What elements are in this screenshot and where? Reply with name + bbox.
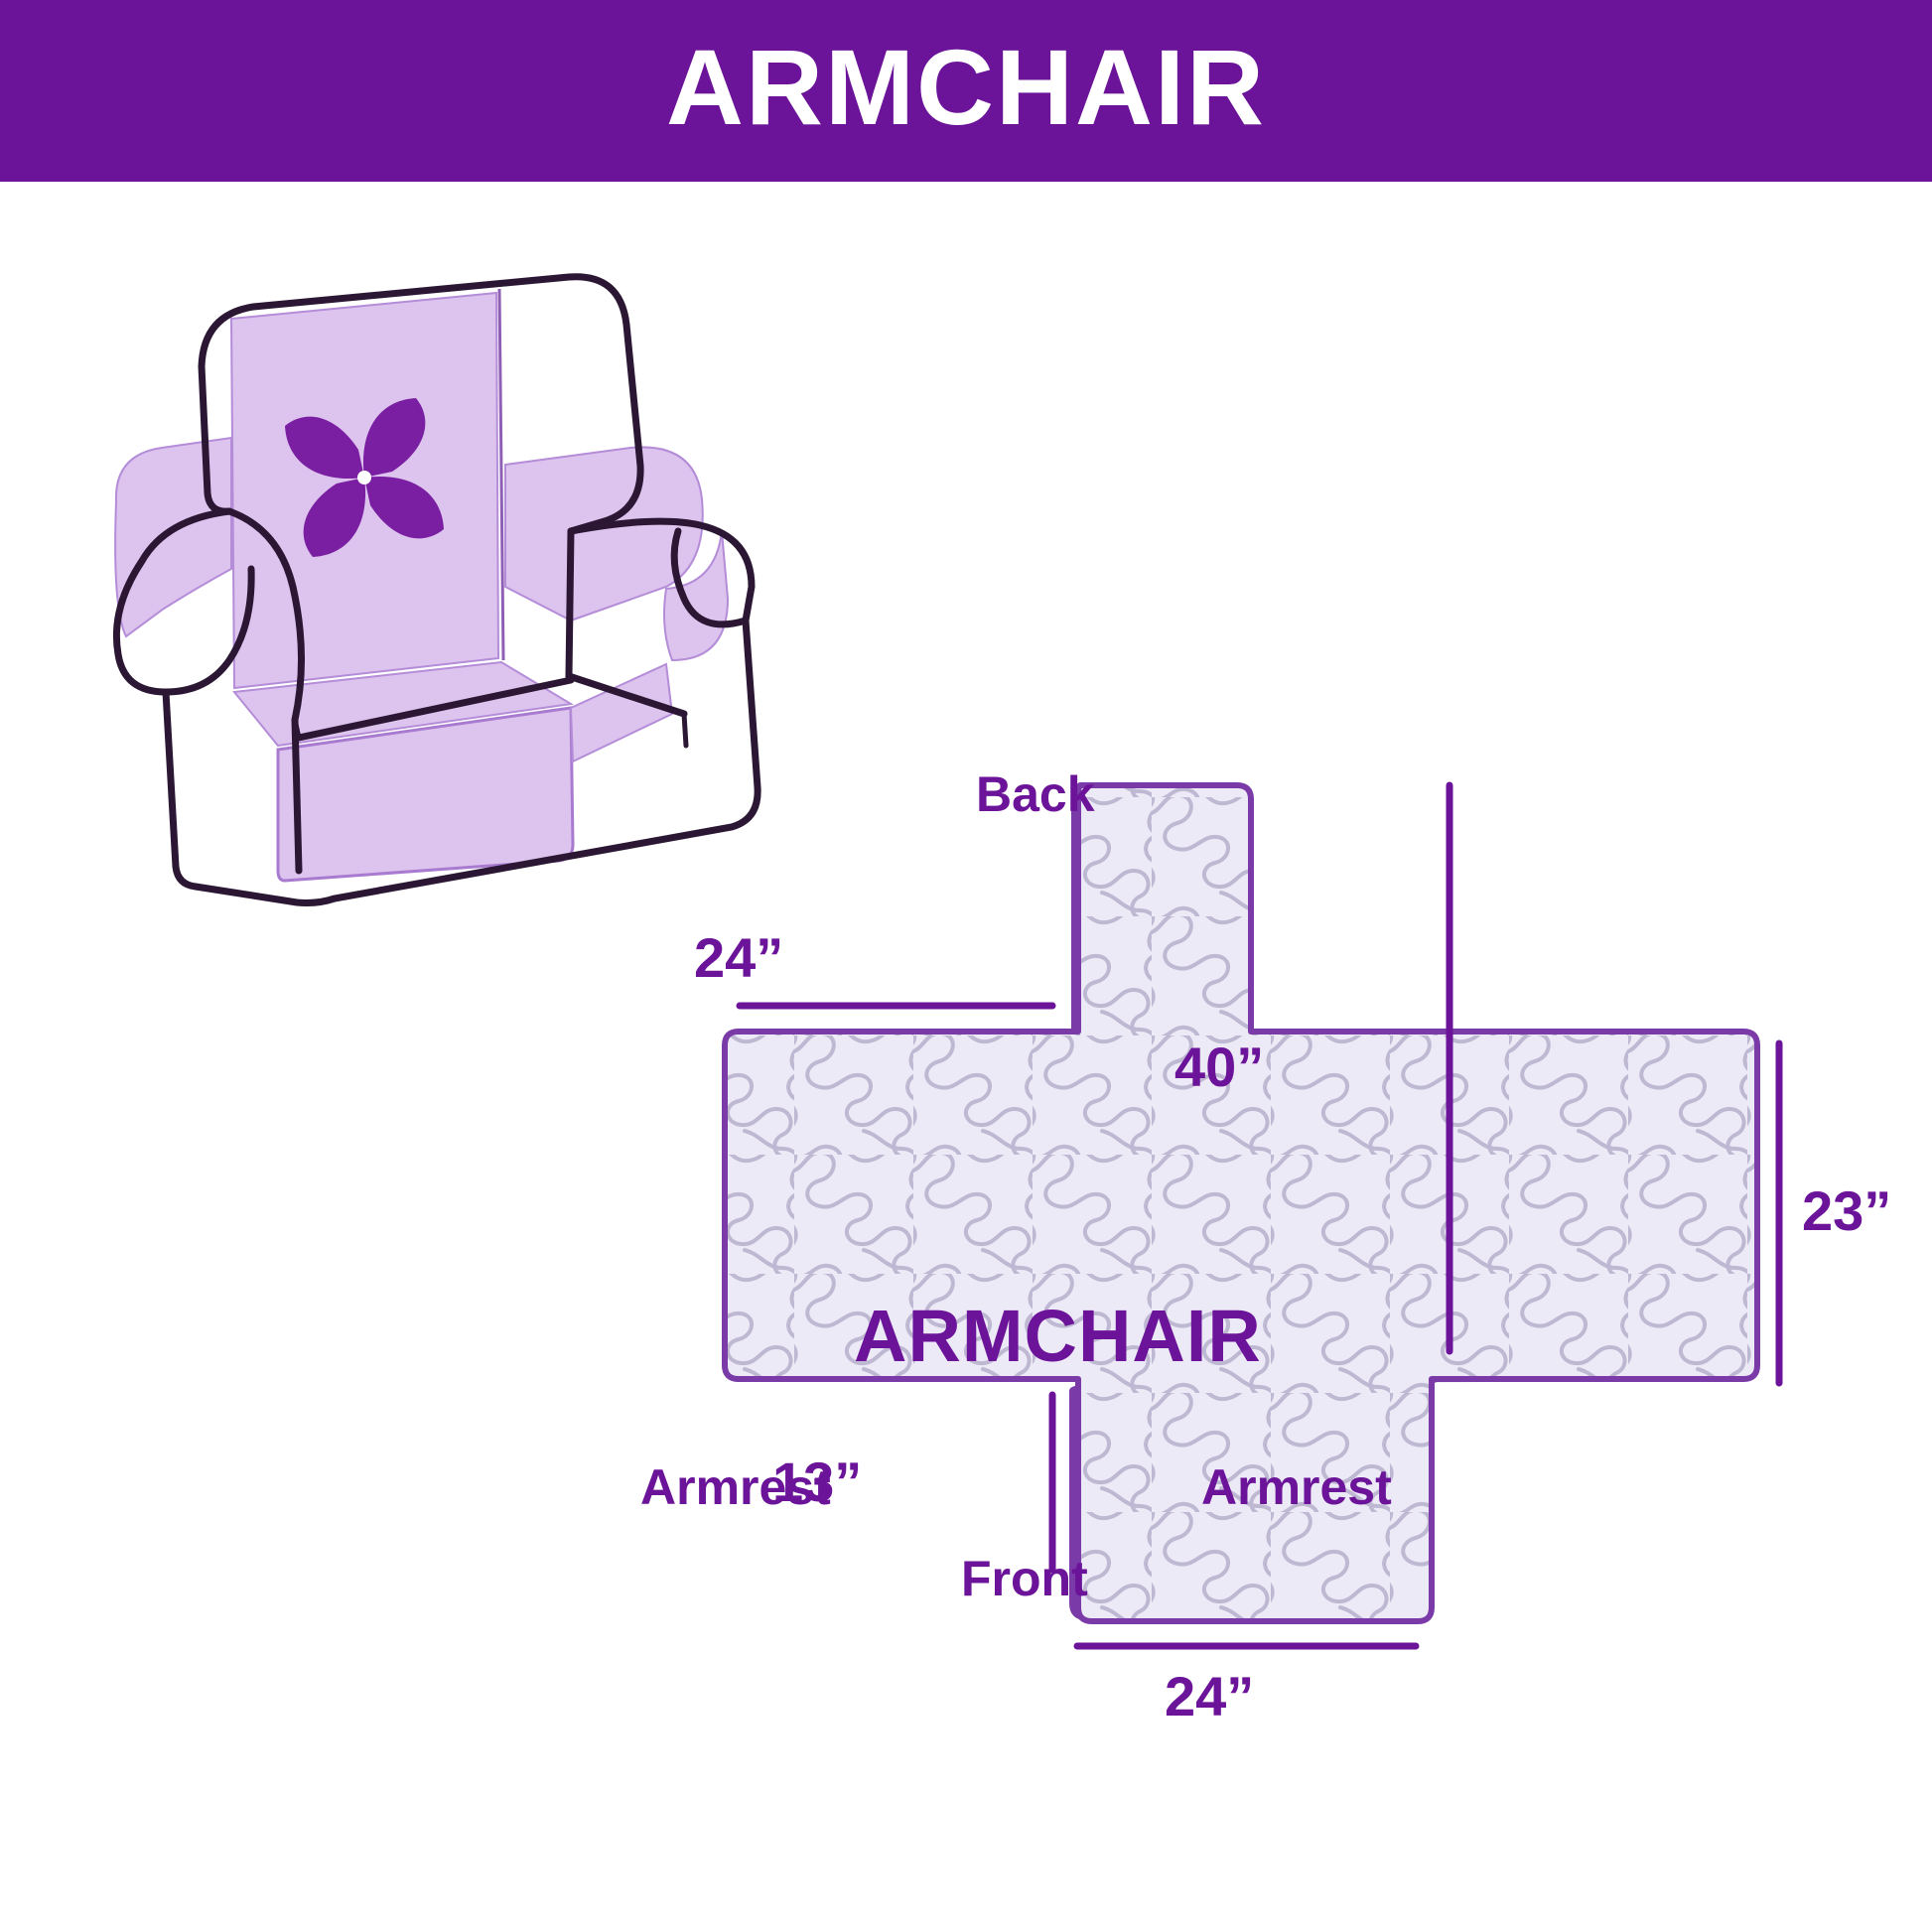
region-label-armrest-right: Armrest bbox=[1201, 1462, 1392, 1512]
region-label-back: Back bbox=[976, 769, 1095, 819]
dimension-label-back-width: 24” bbox=[694, 930, 783, 986]
dimension-label-armrest-height: 23” bbox=[1802, 1183, 1891, 1239]
chair-back-cushion-edge bbox=[499, 289, 503, 660]
page-title: ARMCHAIR bbox=[666, 34, 1266, 141]
cover-shape-diagram: Back Armrest Armrest Front ARMCHAIR 40” … bbox=[556, 440, 1906, 1889]
cover-left-armrest bbox=[115, 438, 231, 636]
chair-left-inner-front-edge bbox=[295, 720, 299, 871]
header-banner: ARMCHAIR bbox=[0, 0, 1932, 182]
chair-left-front-edge bbox=[166, 692, 196, 887]
dimension-label-back-height: 40” bbox=[1174, 1039, 1264, 1095]
diagram-canvas: Back Armrest Armrest Front ARMCHAIR 40” … bbox=[0, 182, 1932, 1932]
region-label-front: Front bbox=[961, 1554, 1088, 1603]
region-label-center-armchair: ARMCHAIR bbox=[854, 1300, 1262, 1373]
dimension-label-front-height: 13” bbox=[772, 1454, 862, 1510]
dimension-label-front-width: 24” bbox=[1165, 1669, 1254, 1725]
